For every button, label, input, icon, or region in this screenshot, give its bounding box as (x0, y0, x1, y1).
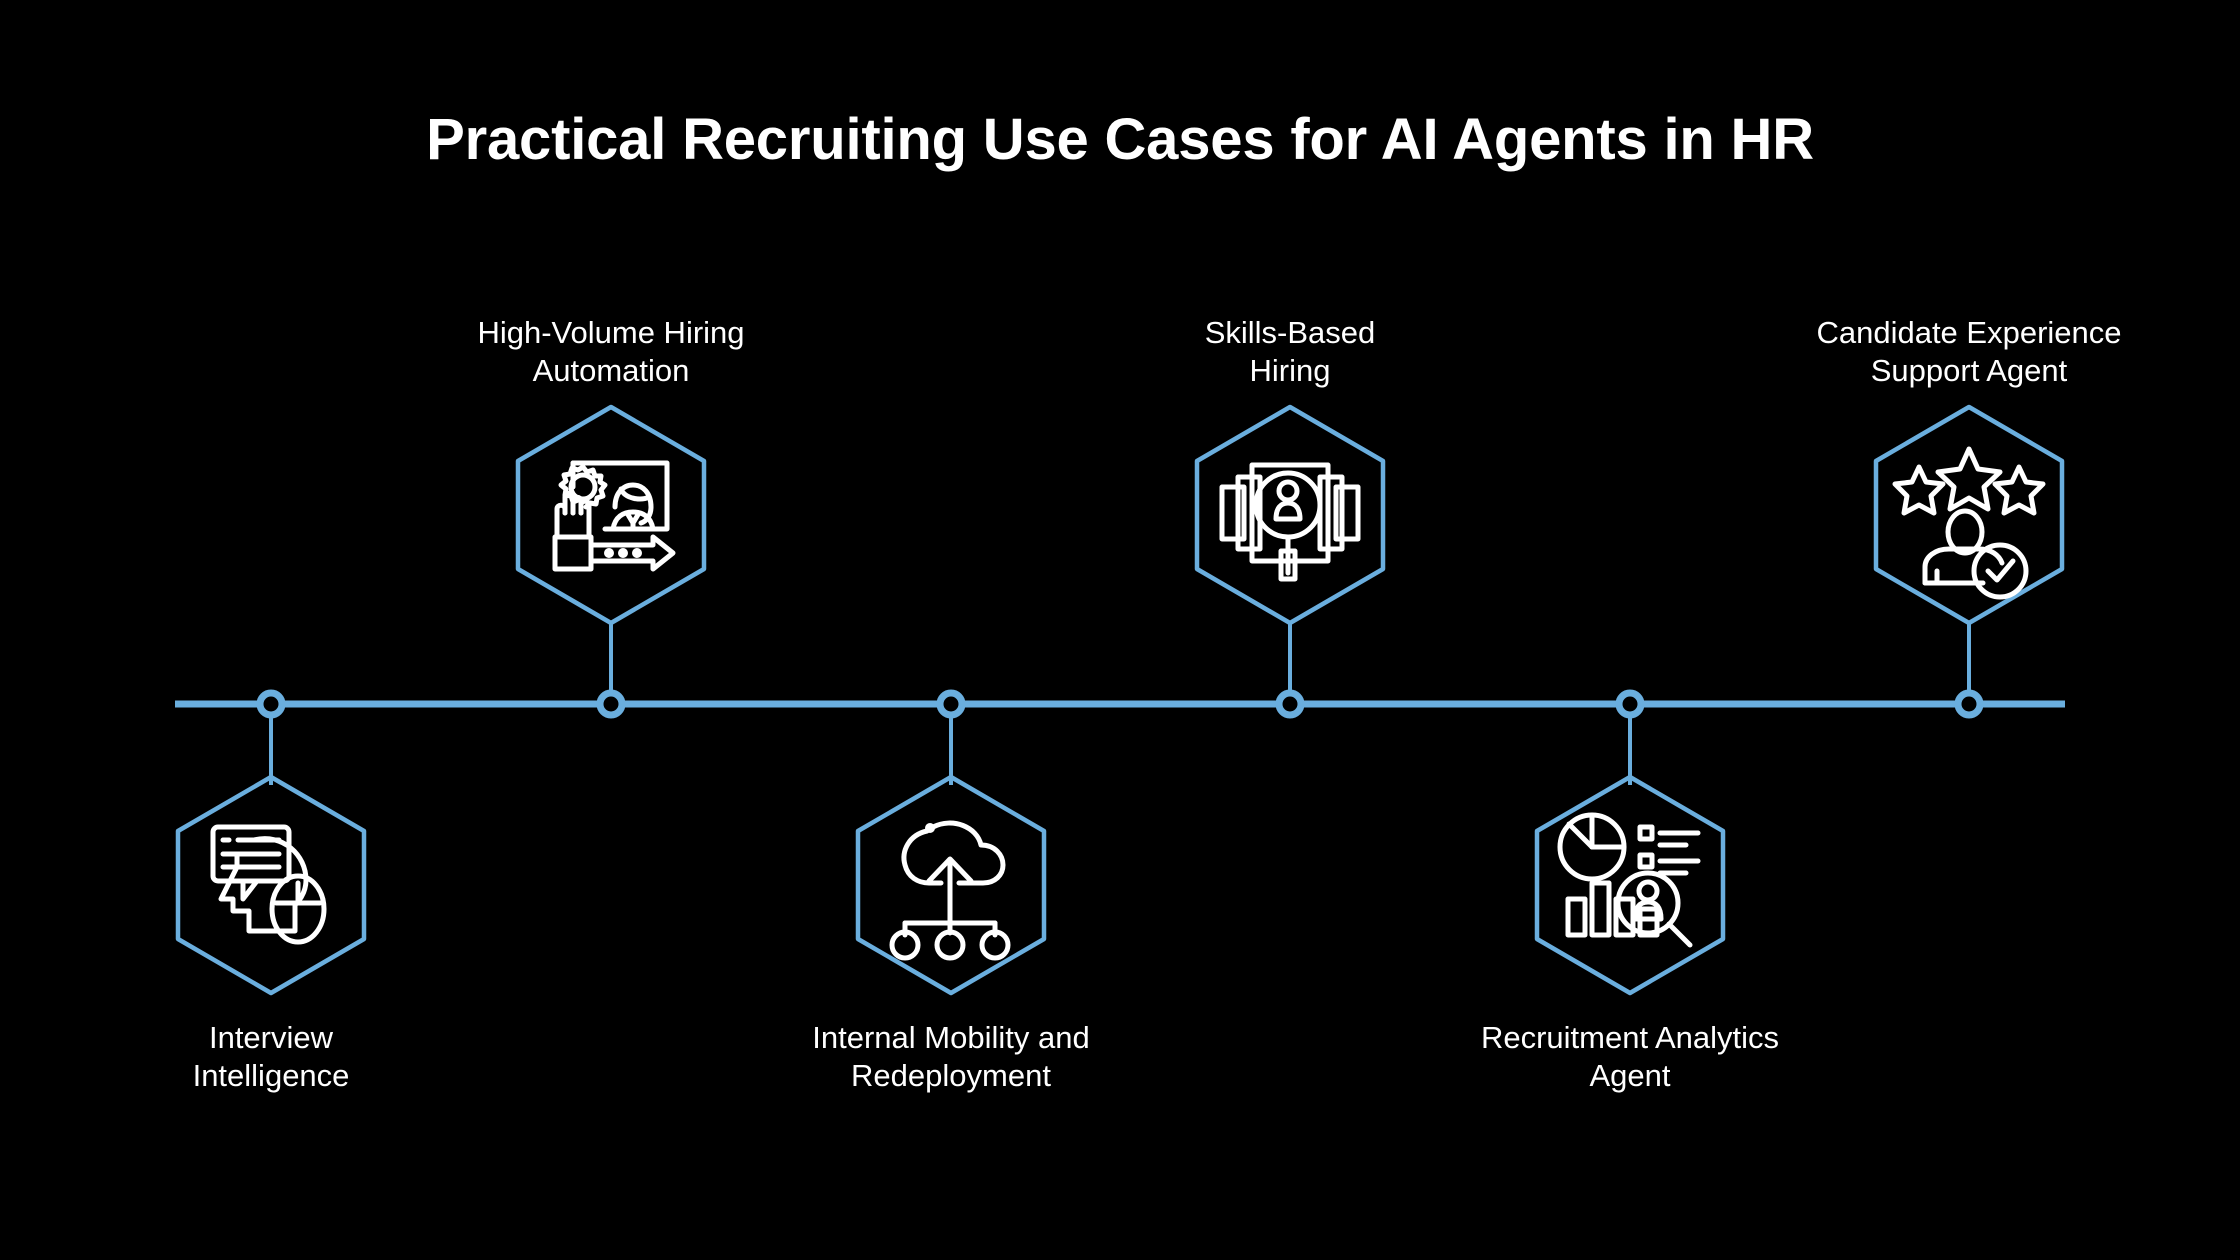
cloud-upload-network-icon (892, 823, 1008, 958)
hexagon-card-1[interactable] (178, 777, 364, 993)
hexagon-card-2[interactable] (518, 407, 704, 623)
timeline-node-5[interactable] (1619, 693, 1641, 715)
node-label-2: High-Volume Hiring Automation (411, 314, 811, 390)
timeline-node-6[interactable] (1958, 693, 1980, 715)
timeline-node-2[interactable] (600, 693, 622, 715)
infographic-canvas: Practical Recruiting Use Cases for AI Ag… (0, 0, 2240, 1260)
stars-person-check-icon (1895, 449, 2043, 597)
charts-magnifier-person-icon (1560, 815, 1698, 945)
timeline-node-4[interactable] (1279, 693, 1301, 715)
head-speech-bubble-mouse-icon (213, 827, 324, 942)
hexagon-card-6[interactable] (1876, 407, 2062, 623)
timeline-node-1[interactable] (260, 693, 282, 715)
node-label-1: Interview Intelligence (71, 1019, 471, 1095)
hexagon-card-4[interactable] (1197, 407, 1383, 623)
magnifier-person-cards-icon (1222, 465, 1358, 579)
hexagon-card-3[interactable] (858, 777, 1044, 993)
hand-gear-person-arrow-icon (555, 463, 673, 569)
node-label-4: Skills-Based Hiring (1090, 314, 1490, 390)
node-label-5: Recruitment Analytics Agent (1430, 1019, 1830, 1095)
hexagon-card-5[interactable] (1537, 777, 1723, 993)
node-label-3: Internal Mobility and Redeployment (751, 1019, 1151, 1095)
timeline-node-3[interactable] (940, 693, 962, 715)
node-label-6: Candidate Experience Support Agent (1769, 314, 2169, 390)
